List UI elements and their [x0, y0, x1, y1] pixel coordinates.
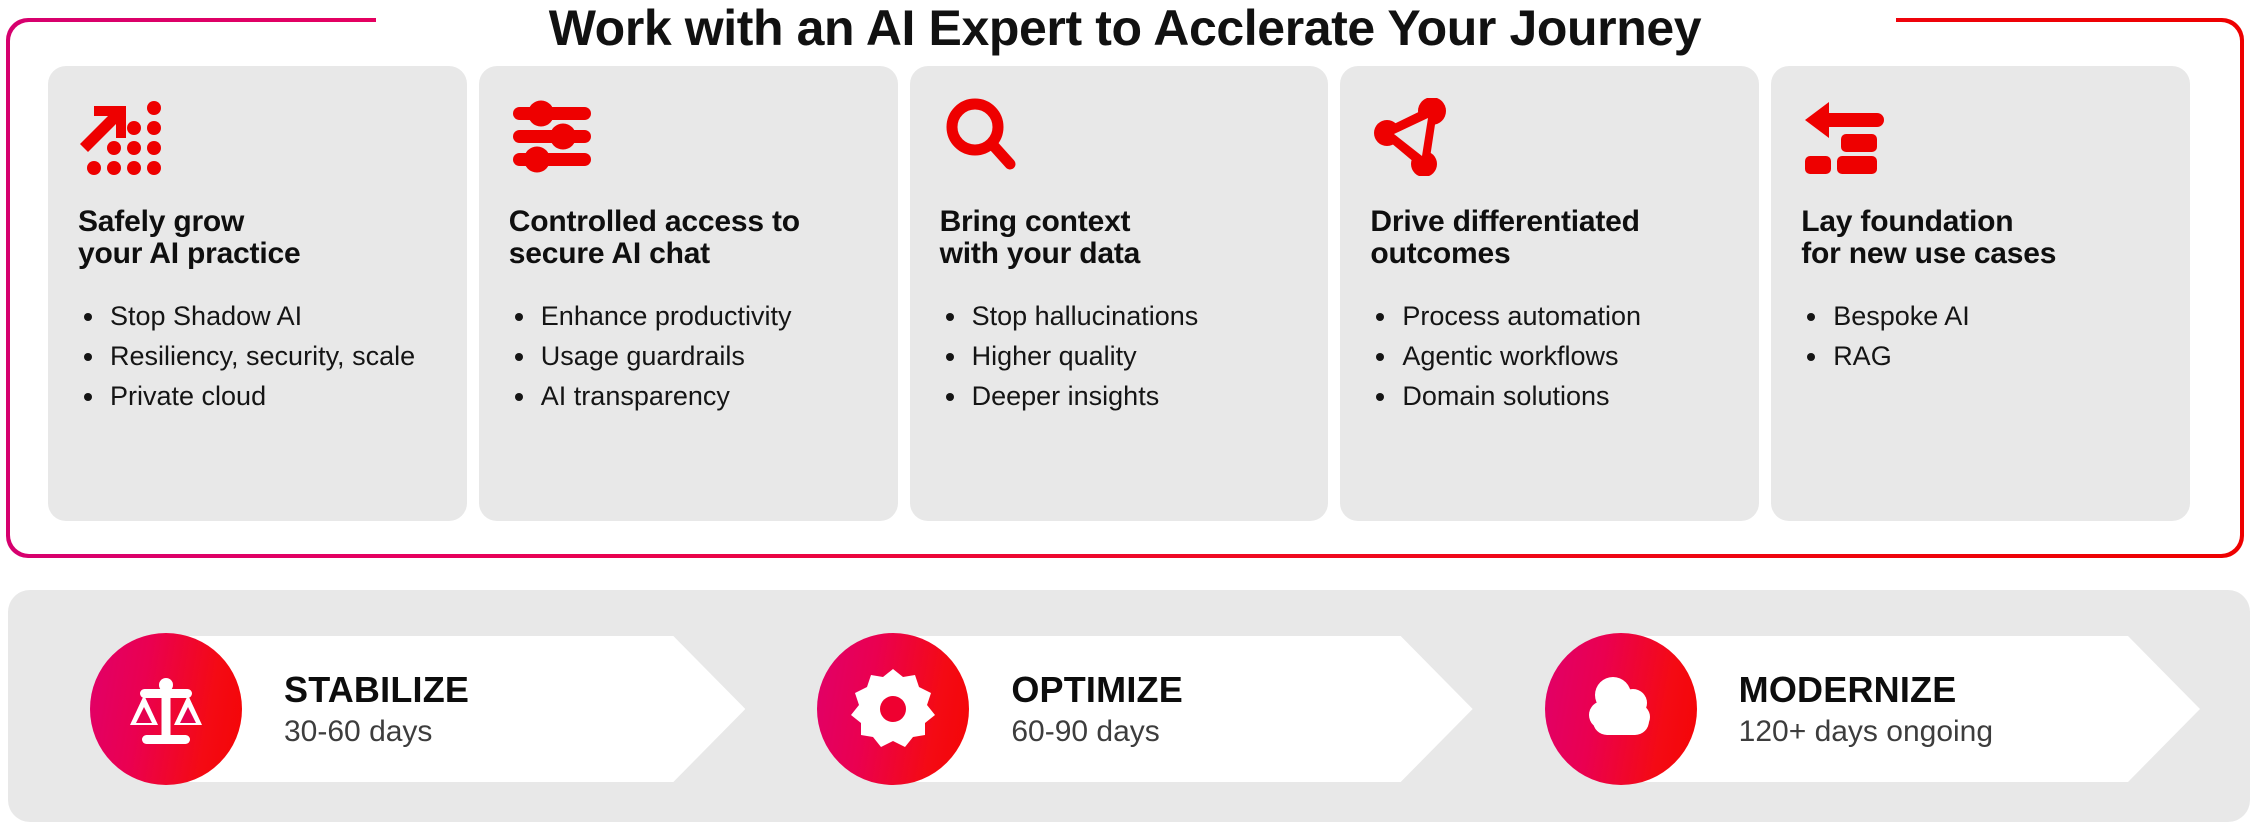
- card-title: Lay foundation for new use cases: [1801, 206, 2160, 271]
- card-bring-context[interactable]: Bring context with your data Stop halluc…: [910, 66, 1329, 521]
- card-title: Controlled access to secure AI chat: [509, 206, 868, 271]
- list-item: Agentic workflows: [1370, 337, 1729, 375]
- sliders-icon: [509, 98, 868, 184]
- list-item: Private cloud: [78, 377, 437, 415]
- cloud-icon: [1545, 633, 1697, 785]
- card-title: Bring context with your data: [940, 206, 1299, 271]
- list-item: Stop hallucinations: [940, 297, 1299, 335]
- list-item: Usage guardrails: [509, 337, 868, 375]
- card-drive-outcomes[interactable]: Drive differentiated outcomes Process au…: [1340, 66, 1759, 521]
- list-item: Higher quality: [940, 337, 1299, 375]
- card-title: Safely grow your AI practice: [78, 206, 437, 271]
- infographic-root: Work with an AI Expert to Acclerate Your…: [0, 0, 2250, 822]
- phase-modernize[interactable]: MODERNIZE 120+ days ongoing: [1545, 614, 2200, 804]
- list-item: Process automation: [1370, 297, 1729, 335]
- phase-text: MODERNIZE 120+ days ongoing: [1739, 670, 1993, 749]
- list-item: RAG: [1801, 337, 2160, 375]
- magnifying-glass-icon: [940, 98, 1299, 184]
- phase-timeline: STABILIZE 30-60 days OPTIMIZE 60-90 days: [90, 614, 2200, 804]
- phase-duration: 120+ days ongoing: [1739, 715, 1993, 748]
- card-controlled-access[interactable]: Controlled access to secure AI chat Enha…: [479, 66, 898, 521]
- phase-stabilize[interactable]: STABILIZE 30-60 days: [90, 614, 745, 804]
- card-bullet-list: Process automation Agentic workflows Dom…: [1370, 297, 1729, 418]
- list-item: Bespoke AI: [1801, 297, 2160, 335]
- card-bullet-list: Bespoke AI RAG: [1801, 297, 2160, 378]
- phase-optimize[interactable]: OPTIMIZE 60-90 days: [817, 614, 1472, 804]
- balance-scale-icon: [90, 633, 242, 785]
- list-item: Deeper insights: [940, 377, 1299, 415]
- network-triangle-icon: [1370, 98, 1729, 184]
- list-item: AI transparency: [509, 377, 868, 415]
- card-title: Drive differentiated outcomes: [1370, 206, 1729, 271]
- phase-duration: 30-60 days: [284, 715, 469, 748]
- phase-text: OPTIMIZE 60-90 days: [1011, 670, 1183, 749]
- card-safely-grow[interactable]: Safely grow your AI practice Stop Shadow…: [48, 66, 467, 521]
- card-lay-foundation[interactable]: Lay foundation for new use cases Bespoke…: [1771, 66, 2190, 521]
- list-item: Domain solutions: [1370, 377, 1729, 415]
- phase-name: STABILIZE: [284, 670, 469, 710]
- gear-icon: [817, 633, 969, 785]
- phase-text: STABILIZE 30-60 days: [284, 670, 469, 749]
- page-title: Work with an AI Expert to Acclerate Your…: [0, 0, 2250, 56]
- card-bullet-list: Enhance productivity Usage guardrails AI…: [509, 297, 868, 418]
- card-bullet-list: Stop Shadow AI Resiliency, security, sca…: [78, 297, 437, 418]
- phase-name: OPTIMIZE: [1011, 670, 1183, 710]
- arrow-up-right-dots-icon: [78, 98, 437, 184]
- phase-duration: 60-90 days: [1011, 715, 1183, 748]
- capability-cards: Safely grow your AI practice Stop Shadow…: [48, 66, 2190, 521]
- foundation-bricks-icon: [1801, 98, 2160, 184]
- card-bullet-list: Stop hallucinations Higher quality Deepe…: [940, 297, 1299, 418]
- phase-name: MODERNIZE: [1739, 670, 1993, 710]
- list-item: Enhance productivity: [509, 297, 868, 335]
- list-item: Stop Shadow AI: [78, 297, 437, 335]
- list-item: Resiliency, security, scale: [78, 337, 437, 375]
